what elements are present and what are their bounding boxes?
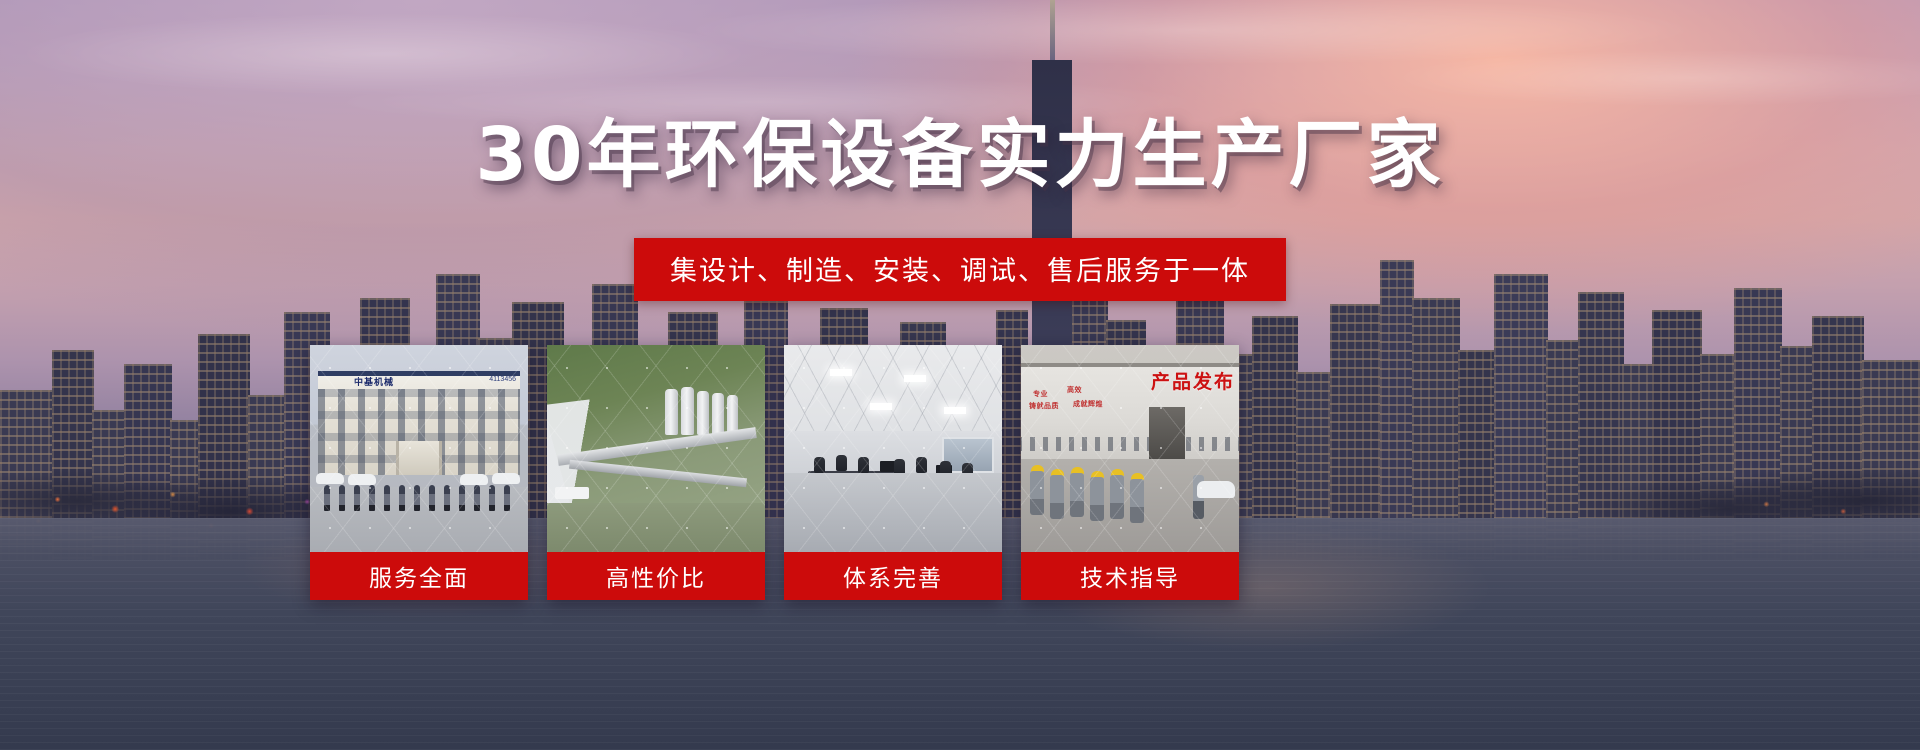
office-interior-team-photo xyxy=(784,345,1002,552)
feature-card-caption: 技术指导 xyxy=(1021,552,1239,600)
aerial-industrial-plant-photo xyxy=(547,345,765,552)
page-title: 30年环保设备实力生产厂家 xyxy=(476,95,1445,202)
feature-card-caption: 服务全面 xyxy=(310,552,528,600)
subtitle-ribbon: 集设计、制造、安装、调试、售后服务于一体 xyxy=(634,238,1286,301)
subtitle-container: 集设计、制造、安装、调试、售后服务于一体 xyxy=(0,238,1920,301)
company-office-building-staff-photo: 中基机械 4113456 xyxy=(310,345,528,552)
factory-workers-photo: 产品发布 专业 高效 铸就品质 成就辉煌 xyxy=(1021,345,1239,552)
factory-slogan-4: 成就辉煌 xyxy=(1073,399,1103,409)
hero-banner: 30年环保设备实力生产厂家 集设计、制造、安装、调试、售后服务于一体 中基机械 … xyxy=(0,0,1920,750)
headline-container: 30年环保设备实力生产厂家 xyxy=(0,95,1920,202)
factory-banner-text: 产品发布 xyxy=(1151,367,1235,394)
feature-card[interactable]: 产品发布 专业 高效 铸就品质 成就辉煌 xyxy=(1021,345,1239,600)
feature-card-caption: 高性价比 xyxy=(547,552,765,600)
factory-slogan-1: 专业 xyxy=(1033,389,1048,399)
building-sign-text: 中基机械 xyxy=(354,375,394,388)
factory-slogan-2: 高效 xyxy=(1067,385,1082,395)
factory-slogan-3: 铸就品质 xyxy=(1029,401,1059,411)
feature-card-list: 中基机械 4113456 xyxy=(310,345,1630,600)
building-phone-text: 4113456 xyxy=(489,376,516,383)
feature-card[interactable]: 高性价比 xyxy=(547,345,765,600)
feature-card[interactable]: 体系完善 xyxy=(784,345,1002,600)
feature-card-caption: 体系完善 xyxy=(784,552,1002,600)
feature-card[interactable]: 中基机械 4113456 xyxy=(310,345,528,600)
